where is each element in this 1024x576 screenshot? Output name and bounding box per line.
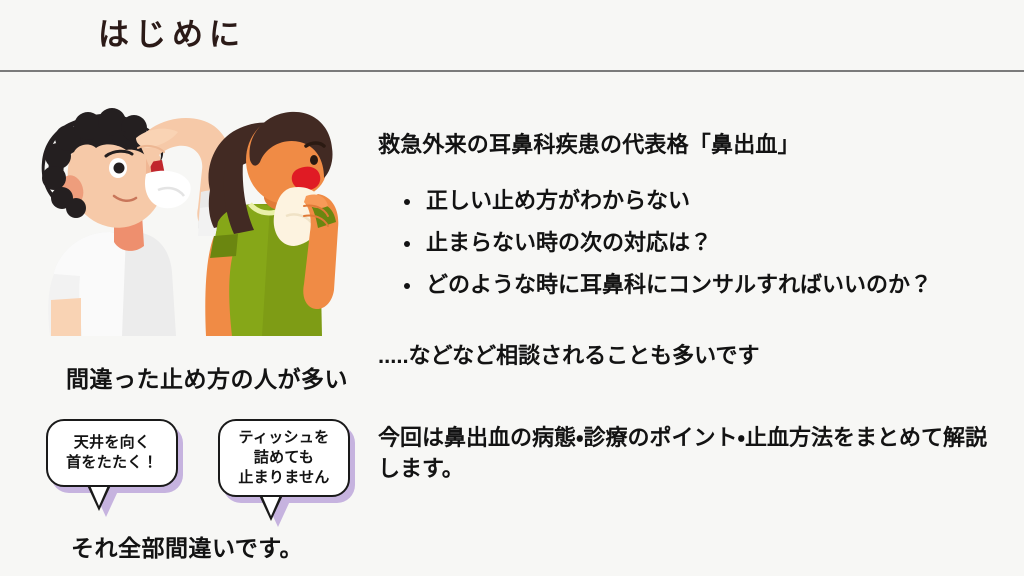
bullet-item-label: どのような時に耳鼻科にコンサルすればいいのか？ — [426, 272, 932, 297]
man-figure — [42, 108, 232, 336]
title-divider — [0, 70, 1024, 72]
speech-bubble-ceiling: 天井を向く 首をたたく！ — [46, 419, 178, 487]
nosebleed-illustration — [18, 104, 368, 336]
bullet-list: 正しい止め方がわからない 止まらない時の次の対応は？ どのような時に耳鼻科にコン… — [378, 190, 1018, 296]
bullet-item: どのような時に耳鼻科にコンサルすればいいのか？ — [404, 274, 1018, 296]
speech-bubble-line: 止まりません — [238, 468, 329, 488]
illustration-svg — [18, 104, 368, 336]
page-title: はじめに — [98, 16, 246, 53]
speech-bubble-body: ティッシュを 詰めても 止まりません — [218, 419, 350, 497]
bullet-dot-icon — [404, 283, 410, 289]
bullet-dot-icon — [404, 241, 410, 247]
illustration-caption-bottom: それ全部間違いです。 — [71, 529, 303, 563]
bullet-dot-icon — [404, 199, 410, 205]
bullet-item: 止まらない時の次の対応は？ — [404, 232, 1018, 254]
bullet-item-label: 正しい止め方がわからない — [426, 188, 690, 213]
speech-bubble-line: 天井を向く — [74, 433, 151, 453]
speech-bubble-body: 天井を向く 首をたたく！ — [46, 419, 178, 487]
speech-bubble-line: 詰めても — [254, 448, 314, 468]
illustration-caption-top: 間違った止め方の人が多い — [66, 360, 348, 394]
lead-heading: 救急外来の耳鼻科疾患の代表格「鼻出血」 — [378, 130, 1018, 160]
summary-paragraph: 今回は鼻出血の病態・診療のポイント・止血方法をまとめて解説します。 — [378, 422, 1003, 486]
bullet-item: 正しい止め方がわからない — [404, 190, 1018, 212]
woman-figure — [205, 112, 338, 336]
speech-bubble-line: ティッシュを — [239, 428, 330, 448]
speech-bubble-line: 首をたたく！ — [66, 453, 158, 473]
speech-bubble-tissue: ティッシュを 詰めても 止まりません — [218, 419, 350, 497]
slide-canvas: はじめに — [0, 0, 1024, 576]
etcetera-line: .....などなど相談されることも多いです — [378, 340, 1018, 372]
body-text-column: 救急外来の耳鼻科疾患の代表格「鼻出血」 正しい止め方がわからない 止まらない時の… — [378, 130, 1018, 485]
bullet-item-label: 止まらない時の次の対応は？ — [426, 230, 712, 255]
